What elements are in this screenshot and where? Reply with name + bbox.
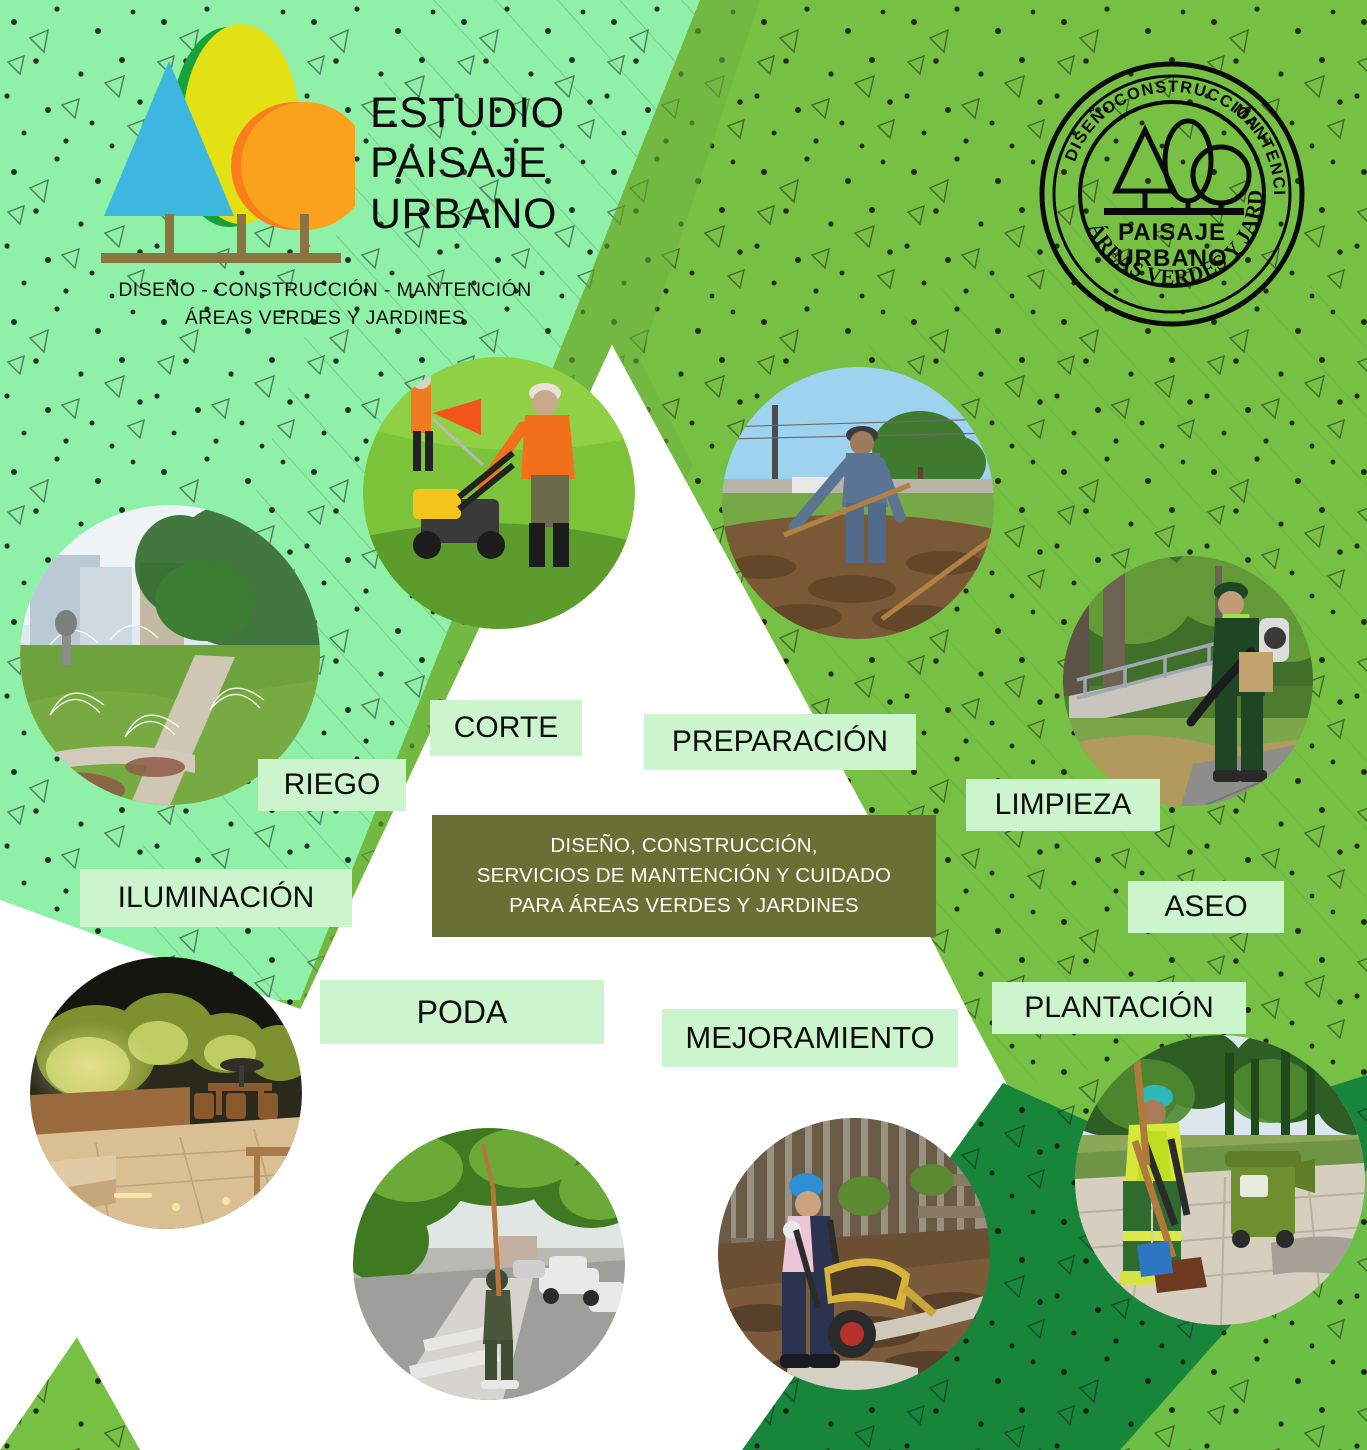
service-label-iluminacion-text: ILUMINACIÓN xyxy=(118,881,315,915)
mejoramiento-photo xyxy=(718,1118,990,1390)
poda-photo xyxy=(353,1128,625,1400)
stamp-seal-trees-icon: DISEÑO • CONSTRUCCIÓN • MANTENCIÓN ÁREAS… xyxy=(1036,58,1308,330)
service-label-preparacion-text: PREPARACIÓN xyxy=(672,725,888,759)
aseo-photo xyxy=(1075,1035,1365,1325)
service-label-mejoramiento-text: MEJORAMIENTO xyxy=(685,1020,934,1056)
center-box-line-3: PARA ÁREAS VERDES Y JARDINES xyxy=(509,891,859,921)
service-label-limpieza[interactable]: LIMPIEZA xyxy=(966,779,1160,831)
poster-canvas: ESTUDIO PAISAJE URBANO DISEÑO - CONSTRUC… xyxy=(0,0,1367,1450)
service-label-aseo[interactable]: ASEO xyxy=(1128,881,1284,933)
iluminacion-photo xyxy=(30,957,302,1229)
preparacion-photo xyxy=(722,367,994,639)
service-label-plantacion-text: PLANTACIÓN xyxy=(1024,991,1213,1025)
center-box-line-1: DISEÑO, CONSTRUCCIÓN, xyxy=(550,831,817,861)
service-label-corte[interactable]: CORTE xyxy=(430,700,582,756)
brand-title-line-1: ESTUDIO xyxy=(370,88,565,138)
service-label-poda[interactable]: PODA xyxy=(320,980,604,1044)
service-label-riego[interactable]: RIEGO xyxy=(258,759,406,811)
limpieza-photo xyxy=(1063,556,1313,806)
corte-photo xyxy=(363,357,635,629)
brand-subtitle: DISEÑO - CONSTRUCCIÓN - MANTENCIÓN ÁREAS… xyxy=(70,277,580,332)
service-label-iluminacion[interactable]: ILUMINACIÓN xyxy=(80,869,352,927)
stamp-inner-paisaje: PAISAJE xyxy=(1118,219,1226,246)
brand-subtitle-line-1: DISEÑO - CONSTRUCCIÓN - MANTENCIÓN xyxy=(70,277,580,305)
service-label-preparacion[interactable]: PREPARACIÓN xyxy=(644,714,916,770)
service-label-riego-text: RIEGO xyxy=(284,768,381,802)
three-trees-logo xyxy=(95,20,355,270)
brand-subtitle-line-2: ÁREAS VERDES Y JARDINES xyxy=(70,305,580,333)
brand-title-line-3: URBANO xyxy=(370,189,565,239)
service-label-mejoramiento[interactable]: MEJORAMIENTO xyxy=(662,1009,958,1067)
brand-title-line-2: PAISAJE xyxy=(370,138,565,188)
center-description-box: DISEÑO, CONSTRUCCIÓN, SERVICIOS DE MANTE… xyxy=(432,815,936,937)
service-label-corte-text: CORTE xyxy=(454,711,558,745)
center-box-line-2: SERVICIOS DE MANTENCIÓN Y CUIDADO xyxy=(477,861,891,891)
service-label-limpieza-text: LIMPIEZA xyxy=(995,788,1132,822)
service-label-aseo-text: ASEO xyxy=(1164,890,1247,924)
service-label-poda-text: PODA xyxy=(417,994,508,1031)
service-label-plantacion[interactable]: PLANTACIÓN xyxy=(992,982,1246,1034)
stamp-inner-urbano: URBANO xyxy=(1116,245,1227,272)
brand-title: ESTUDIO PAISAJE URBANO xyxy=(370,88,565,239)
